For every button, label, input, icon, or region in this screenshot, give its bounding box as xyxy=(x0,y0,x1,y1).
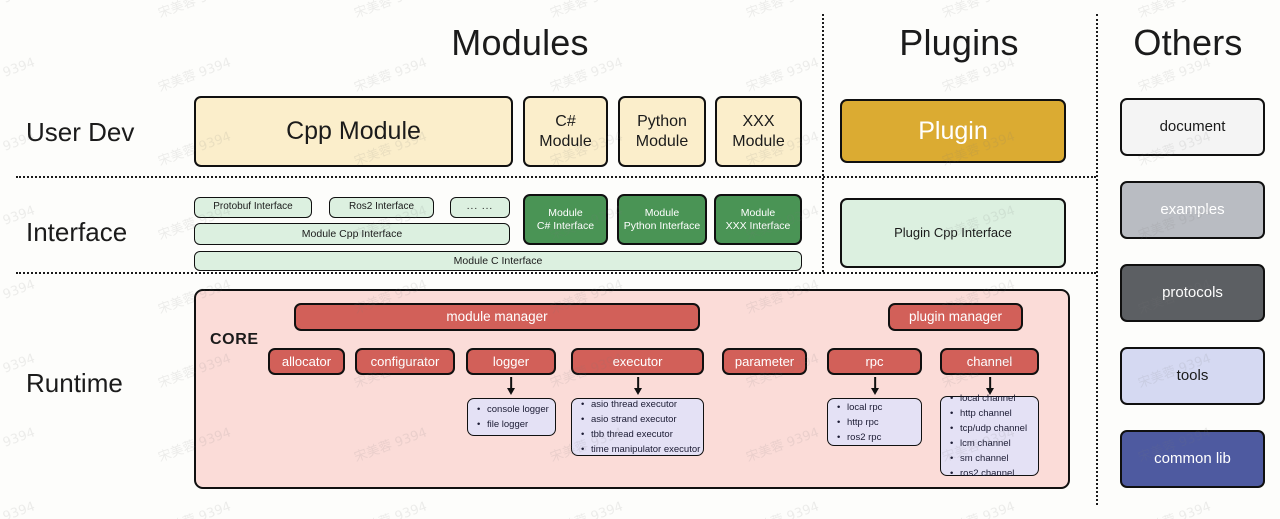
watermark-text: 宋美蓉 9394 xyxy=(939,0,1017,21)
box-plugin[interactable]: Plugin xyxy=(840,99,1066,163)
heading-modules: Modules xyxy=(355,22,685,64)
list-item: sm channel xyxy=(960,451,1032,466)
watermark-text: 宋美蓉 9394 xyxy=(155,0,233,21)
list-item: http channel xyxy=(960,406,1032,421)
box-xxx-module[interactable]: XXX Module xyxy=(715,96,802,167)
divider-plugins-others xyxy=(1096,14,1098,505)
list-rpc-implementations: local rpchttp rpcros2 rpc xyxy=(827,398,922,446)
watermark-text: 宋美蓉 9394 xyxy=(743,52,821,96)
box-protobuf-interface[interactable]: Protobuf Interface xyxy=(194,197,312,218)
watermark-text: 宋美蓉 9394 xyxy=(0,0,37,21)
list-item: local channel xyxy=(960,391,1032,406)
watermark-text: 宋美蓉 9394 xyxy=(743,496,821,519)
box-parameter[interactable]: parameter xyxy=(722,348,807,375)
box-module-python-interface[interactable]: Module Python Interface xyxy=(617,194,707,245)
watermark-text: 宋美蓉 9394 xyxy=(547,0,625,21)
box-executor[interactable]: executor xyxy=(571,348,704,375)
core-label: CORE xyxy=(210,331,259,349)
list-item: asio strand executor xyxy=(591,412,700,427)
heading-plugins: Plugins xyxy=(824,22,1094,64)
watermark-text: 宋美蓉 9394 xyxy=(743,0,821,21)
box-common-lib[interactable]: common lib xyxy=(1120,430,1265,488)
box-module-manager[interactable]: module manager xyxy=(294,303,700,331)
list-item: local rpc xyxy=(847,400,915,415)
divider-interface-runtime xyxy=(16,272,1096,274)
list-item: ros2 rpc xyxy=(847,430,915,445)
list-item: asio thread executor xyxy=(591,397,700,412)
watermark-text: 宋美蓉 9394 xyxy=(351,496,429,519)
box-ros2-interface[interactable]: Ros2 Interface xyxy=(329,197,434,218)
arrow-logger-down xyxy=(502,377,520,397)
list-item: ros2 channel xyxy=(960,466,1032,481)
rpc-items-list: local rpchttp rpcros2 rpc xyxy=(834,400,915,445)
list-item: tbb thread executor xyxy=(591,427,700,442)
watermark-text: 宋美蓉 9394 xyxy=(0,52,37,96)
row-label-interface: Interface xyxy=(26,217,127,248)
box-configurator[interactable]: configurator xyxy=(355,348,455,375)
watermark-text: 宋美蓉 9394 xyxy=(0,422,37,466)
box-cpp-module[interactable]: Cpp Module xyxy=(194,96,513,167)
box-protocols[interactable]: protocols xyxy=(1120,264,1265,322)
watermark-text: 宋美蓉 9394 xyxy=(939,496,1017,519)
box-examples[interactable]: examples xyxy=(1120,181,1265,239)
box-more-interface[interactable]: ... ... xyxy=(450,197,510,218)
list-executor-implementations: asio thread executorasio strand executor… xyxy=(571,398,704,456)
watermark-text: 宋美蓉 9394 xyxy=(155,52,233,96)
arrow-executor-down xyxy=(629,377,647,397)
box-rpc[interactable]: rpc xyxy=(827,348,922,375)
box-csharp-module[interactable]: C# Module xyxy=(523,96,608,167)
list-logger-implementations: console loggerfile logger xyxy=(467,398,556,436)
box-plugin-cpp-interface[interactable]: Plugin Cpp Interface xyxy=(840,198,1066,268)
box-allocator[interactable]: allocator xyxy=(268,348,345,375)
box-tools[interactable]: tools xyxy=(1120,347,1265,405)
divider-userdev-interface xyxy=(16,176,1096,178)
box-plugin-manager[interactable]: plugin manager xyxy=(888,303,1023,331)
box-module-xxx-interface[interactable]: Module XXX Interface xyxy=(714,194,802,245)
heading-others: Others xyxy=(1098,22,1278,64)
box-module-cpp-interface[interactable]: Module Cpp Interface xyxy=(194,223,510,245)
box-logger[interactable]: logger xyxy=(466,348,556,375)
channel-items-list: local channelhttp channeltcp/udp channel… xyxy=(947,391,1032,481)
box-module-csharp-interface[interactable]: Module C# Interface xyxy=(523,194,608,245)
box-module-c-interface[interactable]: Module C Interface xyxy=(194,251,802,271)
list-item: lcm channel xyxy=(960,436,1032,451)
row-label-runtime: Runtime xyxy=(26,368,123,399)
watermark-text: 宋美蓉 9394 xyxy=(351,0,429,21)
box-document[interactable]: document xyxy=(1120,98,1265,156)
list-item: time manipulator executor xyxy=(591,442,700,457)
watermark-text: 宋美蓉 9394 xyxy=(547,496,625,519)
box-channel[interactable]: channel xyxy=(940,348,1039,375)
watermark-text: 宋美蓉 9394 xyxy=(1135,0,1213,21)
watermark-text: 宋美蓉 9394 xyxy=(0,496,37,519)
watermark-text: 宋美蓉 9394 xyxy=(155,496,233,519)
executor-items-list: asio thread executorasio strand executor… xyxy=(578,397,700,457)
row-label-user-dev: User Dev xyxy=(26,117,134,148)
arrow-rpc-down xyxy=(866,377,884,397)
watermark-text: 宋美蓉 9394 xyxy=(0,274,37,318)
watermark-text: 宋美蓉 9394 xyxy=(1135,496,1213,519)
architecture-diagram: Modules Plugins Others User Dev Interfac… xyxy=(0,0,1280,519)
list-item: file logger xyxy=(487,417,549,432)
list-item: console logger xyxy=(487,402,549,417)
list-item: http rpc xyxy=(847,415,915,430)
list-channel-implementations: local channelhttp channeltcp/udp channel… xyxy=(940,396,1039,476)
list-item: tcp/udp channel xyxy=(960,421,1032,436)
logger-items-list: console loggerfile logger xyxy=(474,402,549,432)
box-python-module[interactable]: Python Module xyxy=(618,96,706,167)
